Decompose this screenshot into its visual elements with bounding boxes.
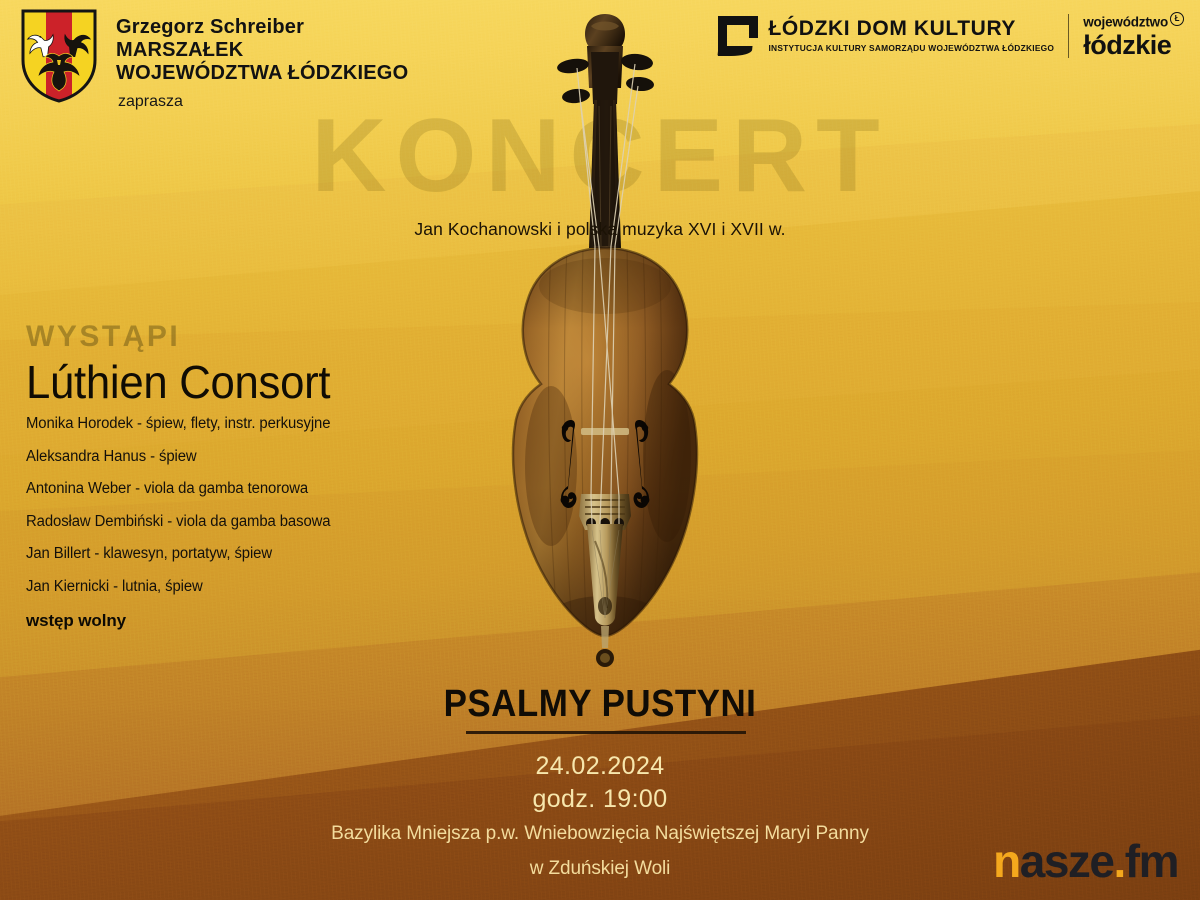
marshal-role-line-1: MARSZAŁEK [116,39,408,62]
logo-divider [1068,14,1069,58]
institution-logos: ŁÓDZKI DOM KULTURY INSTYTUCJA KULTURY SA… [718,12,1184,59]
performer-list-item: Jan Kiernicki - lutnia, śpiew [26,579,439,595]
coat-of-arms-icon [20,8,98,104]
nasze-fm-asze: asze [1020,835,1114,887]
concert-date: 24.02.2024 [0,752,1200,781]
concert-time: godz. 19:00 [0,785,1200,814]
nasze-fm-fm: fm [1125,835,1178,887]
concert-title: PSALMY PUSTYNI [48,683,1152,726]
nasze-fm-dot: . [1113,835,1124,887]
admission-note: wstęp wolny [26,611,456,631]
performers-block: WYSTĄPI Lúthien Consort Monika Horodek -… [26,322,456,631]
ldk-title: ŁÓDZKI DOM KULTURY [768,18,1054,39]
marshal-name: Grzegorz Schreiber [116,16,408,39]
ldk-subtitle: INSTYTUCJA KULTURY SAMORZĄDU WOJEWÓDZTWA… [768,44,1054,52]
voivodeship-top-line: województwoŁ [1083,12,1184,29]
marshal-role-line-2: WOJEWÓDZTWA ŁÓDZKIEGO [116,62,408,85]
ensemble-name: Lúthien Consort [26,358,435,406]
invitation-text: zaprasza [118,93,408,111]
voivodeship-name: łódzkie [1083,32,1184,59]
performer-list-item: Jan Billert - klawesyn, portatyw, śpiew [26,546,439,562]
ldk-logo: ŁÓDZKI DOM KULTURY INSTYTUCJA KULTURY SA… [718,16,1054,56]
performer-list-item: Monika Horodek - śpiew, flety, instr. pe… [26,416,439,432]
voivodeship-logo: województwoŁ łódzkie [1083,12,1184,59]
concert-poster: KONCERT [0,0,1200,900]
violin-scroll [556,14,654,104]
performer-list-item: Aleksandra Hanus - śpiew [26,449,439,465]
ldk-square-mark-icon [718,16,758,56]
performer-list-item: Radosław Dembiński - viola da gamba baso… [26,514,439,530]
voivodeship-registered-mark-icon: Ł [1170,12,1184,26]
title-underline [466,731,746,734]
performer-list-item: Antonina Weber - viola da gamba tenorowa [26,481,439,497]
nasze-fm-logo[interactable]: nasze.fm [993,838,1178,884]
marshal-text-block: Grzegorz Schreiber MARSZAŁEK WOJEWÓDZTWA… [116,8,408,111]
ldk-text-block: ŁÓDZKI DOM KULTURY INSTYTUCJA KULTURY SA… [768,18,1054,52]
voivodeship-word: województwo [1083,15,1168,30]
nasze-fm-n: n [993,835,1020,887]
concert-subtitle: Jan Kochanowski i polska muzyka XVI i XV… [0,219,1200,240]
marshal-header: Grzegorz Schreiber MARSZAŁEK WOJEWÓDZTWA… [20,8,408,111]
performers-heading: WYSTĄPI [26,322,456,352]
violin-illustration [455,0,755,696]
